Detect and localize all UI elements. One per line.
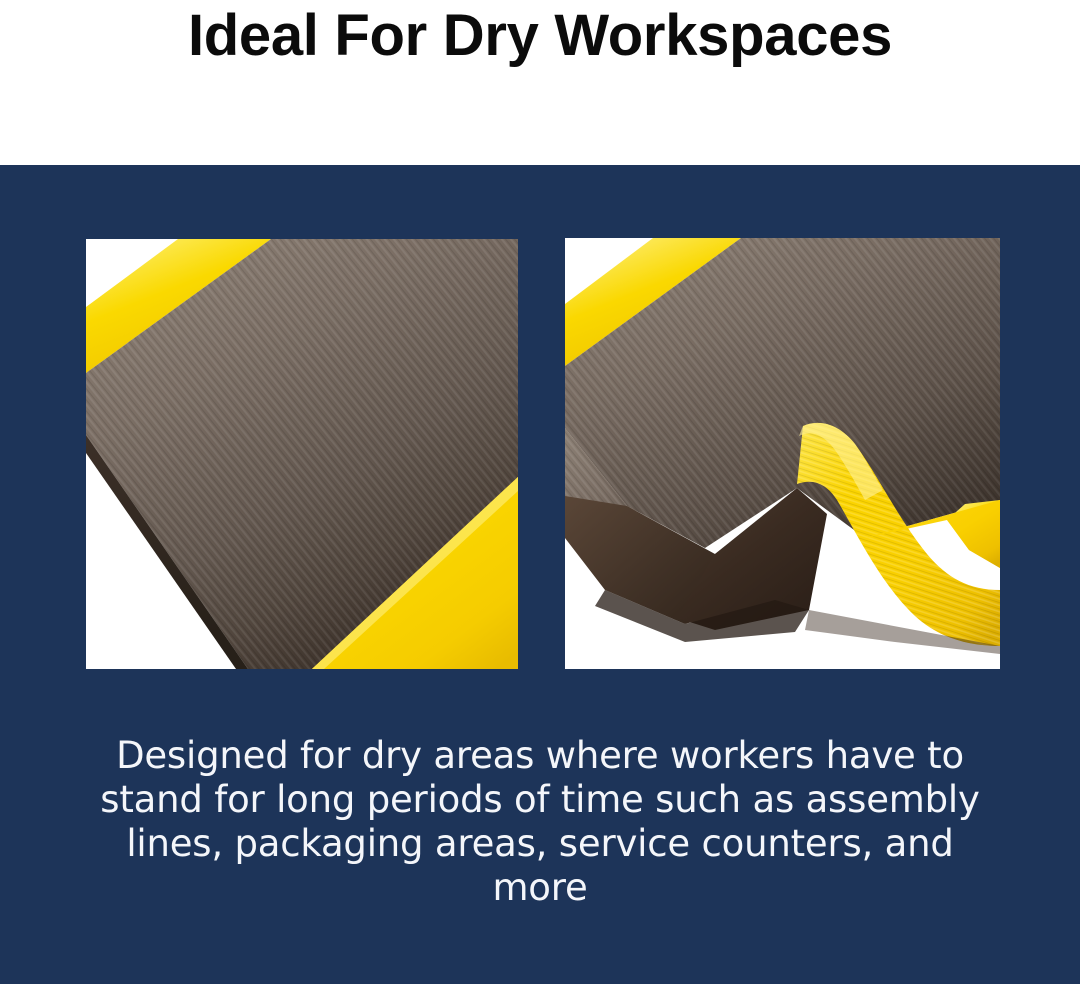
mat-corner-folded-illustration xyxy=(565,238,1000,669)
mat-corner-folded-image xyxy=(565,238,1000,669)
product-feature-panel: Ideal For Dry Workspaces xyxy=(0,0,1080,984)
page-title: Ideal For Dry Workspaces xyxy=(0,0,1080,72)
mat-corner-flat-image xyxy=(86,239,518,669)
mat-corner-flat-illustration xyxy=(86,239,518,669)
caption-line-1: Designed for dry areas where workers hav… xyxy=(90,734,990,778)
header-band: Ideal For Dry Workspaces xyxy=(0,0,1080,165)
caption-line-2: stand for long periods of time such as a… xyxy=(90,778,990,822)
caption-line-3: lines, packaging areas, service counters… xyxy=(90,822,990,910)
caption-block: Designed for dry areas where workers hav… xyxy=(90,734,990,910)
